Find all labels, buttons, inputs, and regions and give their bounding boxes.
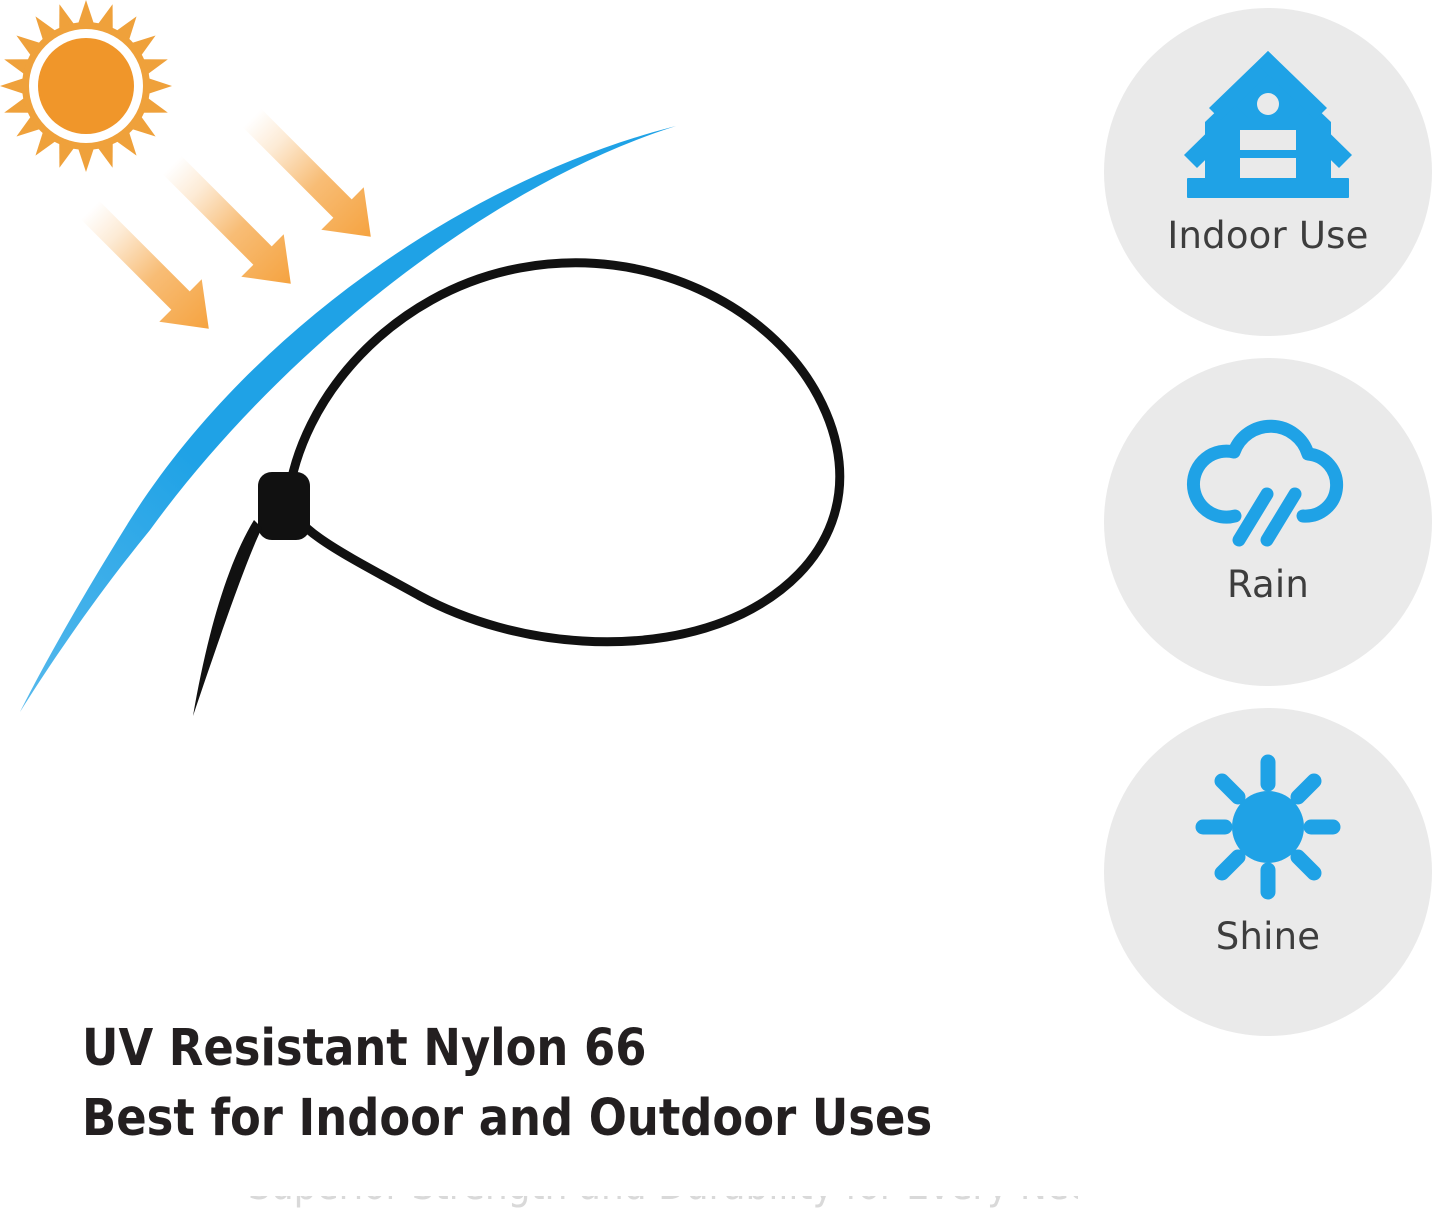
headline-line-2: Best for Indoor and Outdoor Uses: [82, 1084, 962, 1154]
page-headline: UV Resistant Nylon 66 Best for Indoor an…: [82, 1014, 1082, 1154]
house-icon: [1173, 46, 1363, 201]
product-infographic: Indoor Use Rain: [0, 0, 1432, 1211]
badge-label-rain: Rain: [1227, 566, 1309, 603]
rain-cloud-icon: [1173, 410, 1363, 550]
sun-icon: [0, 0, 172, 172]
clipped-caption-text: Superior Strength and Durability for Eve…: [248, 1196, 995, 1206]
badge-label-shine: Shine: [1216, 918, 1320, 955]
headline-line-1: UV Resistant Nylon 66: [82, 1014, 962, 1084]
feature-badge-rain[interactable]: Rain: [1104, 358, 1432, 686]
sun-shine-icon: [1173, 752, 1363, 902]
clipped-caption: Superior Strength and Durability for Eve…: [248, 1196, 1078, 1211]
cable-tie-illustration: [193, 263, 840, 716]
badge-label-indoor-use: Indoor Use: [1167, 217, 1368, 254]
feature-badge-shine[interactable]: Shine: [1104, 708, 1432, 1036]
uv-resistance-diagram: [0, 0, 1060, 1000]
feature-badge-indoor-use[interactable]: Indoor Use: [1104, 8, 1432, 336]
feature-badge-column: Indoor Use Rain: [1104, 8, 1432, 1058]
